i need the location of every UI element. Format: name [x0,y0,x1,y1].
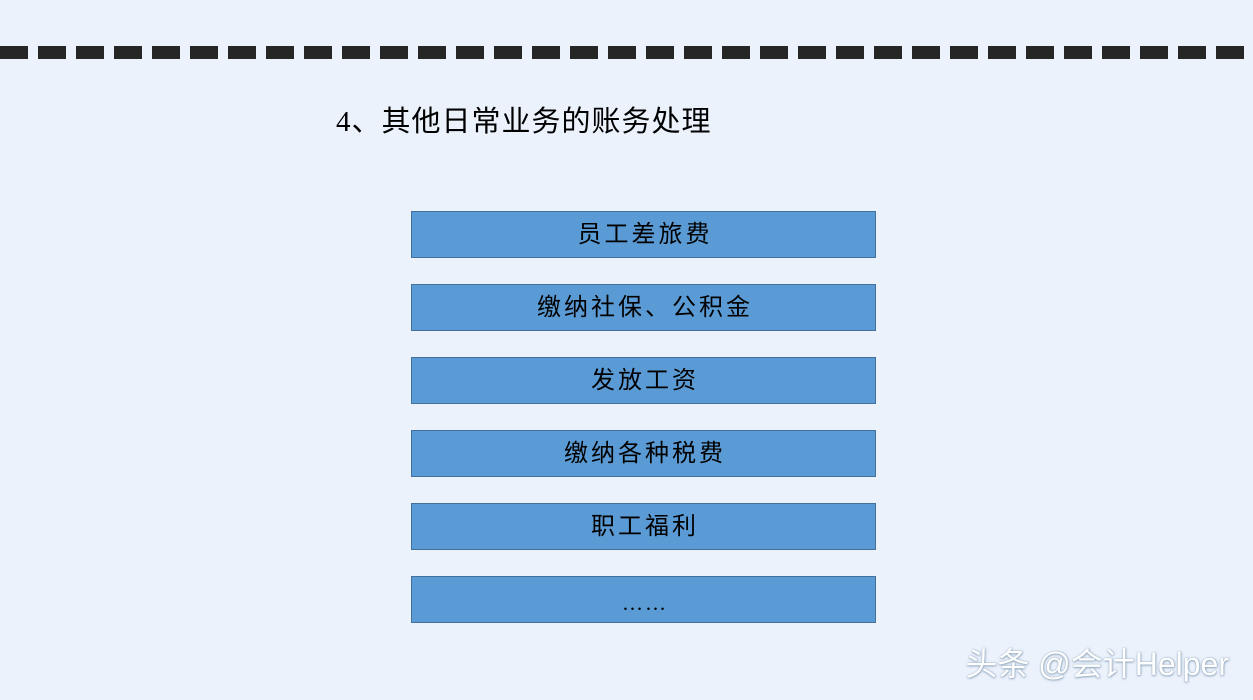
divider-dash [152,46,180,59]
divider-dash [1178,46,1206,59]
divider-dash [760,46,788,59]
divider-dash [1064,46,1092,59]
dashed-divider [0,46,1253,59]
divider-dash [190,46,218,59]
divider-dash [1216,46,1244,59]
topic-bar-taxes[interactable]: 缴纳各种税费 [411,430,876,477]
divider-dash [114,46,142,59]
divider-dash [304,46,332,59]
topic-bar-label: 缴纳社保、公积金 [534,295,753,321]
divider-dash [76,46,104,59]
topic-bar-label: 缴纳各种税费 [561,441,726,467]
topic-bar-label: 发放工资 [588,368,699,394]
divider-dash [38,46,66,59]
topic-bar-label: 员工差旅费 [575,222,713,248]
slide-canvas: 4、其他日常业务的账务处理 员工差旅费 缴纳社保、公积金 发放工资 缴纳各种税费… [0,0,1253,700]
divider-dash [798,46,826,59]
divider-dash [1102,46,1130,59]
divider-dash [646,46,674,59]
divider-dash [418,46,446,59]
divider-dash [456,46,484,59]
divider-dash [266,46,294,59]
divider-dash [532,46,560,59]
divider-dash [950,46,978,59]
topic-bar-label: …… [619,590,668,616]
divider-dash [228,46,256,59]
divider-dash [380,46,408,59]
watermark: 头条 @会计Helper [965,644,1229,684]
topic-bar-payroll[interactable]: 发放工资 [411,357,876,404]
topic-bar-list: 员工差旅费 缴纳社保、公积金 发放工资 缴纳各种税费 职工福利 …… [411,211,876,623]
divider-dash [342,46,370,59]
topic-bar-employee-welfare[interactable]: 职工福利 [411,503,876,550]
divider-dash [1026,46,1054,59]
topic-bar-employee-travel[interactable]: 员工差旅费 [411,211,876,258]
divider-dash [570,46,598,59]
topic-bar-social-insurance[interactable]: 缴纳社保、公积金 [411,284,876,331]
divider-dash [1140,46,1168,59]
divider-dash [988,46,1016,59]
topic-bar-more[interactable]: …… [411,576,876,623]
divider-dash [722,46,750,59]
divider-dash [0,46,28,59]
divider-dash [874,46,902,59]
page-title: 4、其他日常业务的账务处理 [336,101,712,143]
divider-dash [684,46,712,59]
divider-dash [836,46,864,59]
topic-bar-label: 职工福利 [588,514,699,540]
divider-dash [912,46,940,59]
divider-dash [494,46,522,59]
divider-dash [608,46,636,59]
